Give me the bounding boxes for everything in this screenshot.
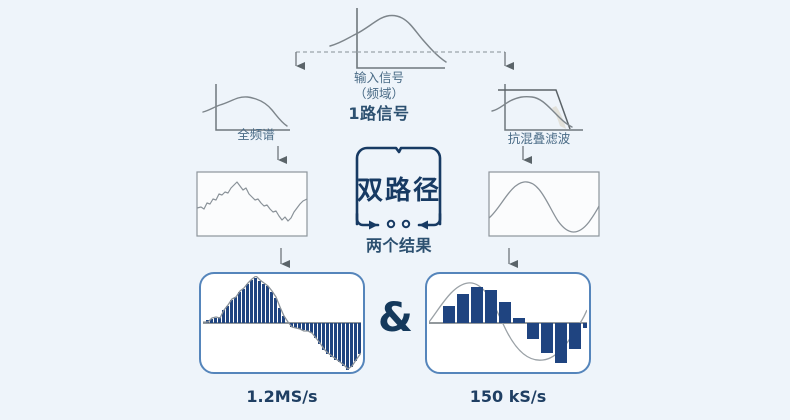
diagram-canvas: 输入信号 （频域） 1路信号 全频谱 抗混叠滤波 双路径 两个结果 & 1.2M… [0,0,790,420]
branch-label-full-spectrum: 全频谱 [218,127,294,143]
input-signal-label-line2: （频域） [354,86,404,101]
branch-label-antialias: 抗混叠滤波 [492,131,586,147]
signal-count-label: 1路信号 [331,100,427,124]
two-results-label: 两个结果 [350,232,448,256]
panel-sampled-broadband [200,273,364,373]
branch-connectors [296,52,505,66]
arrow-left-icon [419,214,440,225]
diagram-graphics [0,0,790,420]
chart-full-spectrum [203,84,290,130]
rate-label-left: 1.2MS/s [222,387,342,406]
chart-antialias-filter [492,84,583,130]
input-signal-label-line1: 输入信号 [354,70,404,85]
arrow-right-icon [357,214,378,225]
dual-path-badge-text: 双路径 [355,170,443,207]
chart-input-spectrum [330,8,446,68]
chart-time-domain-broadband [197,172,307,236]
rate-label-right: 150 kS/s [448,387,568,406]
input-signal-label: 输入信号 （频域） [331,70,427,102]
panel-sampled-filtered [426,273,590,373]
chart-time-domain-sine [489,172,599,236]
ampersand-separator: & [378,295,413,341]
